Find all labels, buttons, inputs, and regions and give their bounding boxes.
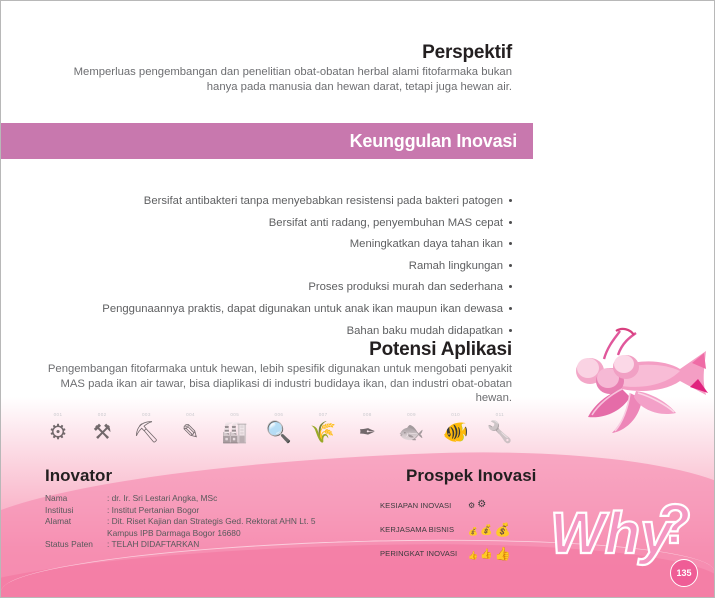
prospek-row-label: PERINGKAT INOVASI: [380, 549, 468, 558]
rating-icon: 👍: [495, 547, 511, 560]
keunggulan-list: Bersifat antibakteri tanpa menyebabkan r…: [61, 195, 512, 346]
keunggulan-item-label: Meningkatkan daya tahan ikan: [350, 238, 503, 250]
equipment-icon: ⚒: [83, 418, 121, 448]
prospek-row-label: KERJASAMA BISNIS: [380, 525, 468, 534]
why-question-mark: ?: [658, 492, 692, 555]
innovation-stage-icon-strip: 001⚙002⚒003⛏004✎005🏭006🔍007🌾008✒009🐟010🐠…: [39, 403, 519, 448]
keunggulan-banner: Keunggulan Inovasi: [0, 123, 533, 159]
prospek-row: KESIAPAN INOVASI⚙⚙: [380, 493, 540, 517]
prospek-row-label: KESIAPAN INOVASI: [380, 501, 468, 510]
strip-item-number: 007: [304, 412, 342, 417]
keunggulan-item-label: Bersifat antibakteri tanpa menyebabkan r…: [144, 195, 503, 207]
rating-icon: 👍: [468, 552, 478, 560]
perspektif-body-text: Memperluas pengembangan dan penelitian o…: [51, 65, 512, 94]
keunggulan-list-item: Bersifat anti radang, penyembuhan MAS ce…: [61, 217, 512, 230]
prospek-row: PERINGKAT INOVASI👍👍👍: [380, 541, 540, 565]
strip-item-004: 004✎: [172, 412, 210, 448]
prospek-row-rating-icons: 💰💰💰: [468, 523, 511, 536]
strip-item-008: 008✒: [348, 412, 386, 448]
strip-item-003: 003⛏: [127, 412, 165, 448]
tower-icon: ⛏: [127, 418, 165, 448]
strip-item-number: 001: [39, 412, 77, 417]
inovator-row-value: : TELAH DIDAFTARKAN: [107, 539, 375, 551]
prospek-row: KERJASAMA BISNIS💰💰💰: [380, 517, 540, 541]
hand-icon: ✒: [348, 418, 386, 448]
rating-icon: 👍: [480, 550, 493, 560]
strip-item-009: 009🐟: [393, 412, 431, 448]
strip-item-number: 010: [437, 412, 475, 417]
inovator-details-table: Nama: dr. Ir. Sri Lestari Angka, MScInst…: [45, 493, 375, 551]
rating-icon: ⚙: [468, 502, 475, 510]
inovator-row-key: Institusi: [45, 505, 107, 517]
strip-item-006: 006🔍: [260, 412, 298, 448]
rating-icon: 💰: [495, 523, 511, 536]
prospek-rating-list: KESIAPAN INOVASI⚙⚙KERJASAMA BISNIS💰💰💰PER…: [380, 493, 540, 565]
rating-icon: ⚙: [477, 500, 486, 510]
strip-item-number: 006: [260, 412, 298, 417]
fish-color-icon: 🐠: [437, 418, 475, 448]
strip-item-005: 005🏭: [216, 412, 254, 448]
tool-icon: ✎: [172, 418, 210, 448]
leaf-shapes: [588, 389, 676, 433]
bullet-dot-icon: [509, 221, 512, 224]
prospek-heading: Prospek Inovasi: [406, 466, 536, 486]
prospek-row-rating-icons: 👍👍👍: [468, 547, 511, 560]
inovator-row-value-continued: Kampus IPB Darmaga Bogor 16680: [107, 528, 375, 540]
strip-item-number: 004: [172, 412, 210, 417]
inovator-row-key: Nama: [45, 493, 107, 505]
rating-icon: 💰: [480, 526, 493, 536]
magnifier-icon: 🔍: [260, 418, 298, 448]
strip-item-number: 011: [481, 412, 519, 417]
inovator-row: Nama: dr. Ir. Sri Lestari Angka, MSc: [45, 493, 375, 505]
keunggulan-item-label: Ramah lingkungan: [409, 260, 503, 272]
inovator-row: Status Paten: TELAH DIDAFTARKAN: [45, 539, 375, 551]
strip-item-002: 002⚒: [83, 412, 121, 448]
keunggulan-list-item: Bahan baku mudah didapatkan: [61, 325, 512, 338]
wrench-icon: 🔧: [481, 418, 519, 448]
fish-and-fruit-illustration: [560, 319, 710, 434]
strip-item-number: 003: [127, 412, 165, 417]
strip-item-001: 001⚙: [39, 412, 77, 448]
bullet-dot-icon: [509, 329, 512, 332]
strip-item-010: 010🐠: [437, 412, 475, 448]
bullet-dot-icon: [509, 264, 512, 267]
inovator-row-value: : Institut Pertanian Bogor: [107, 505, 375, 517]
bullet-dot-icon: [509, 199, 512, 202]
inovator-row-value: : dr. Ir. Sri Lestari Angka, MSc: [107, 493, 375, 505]
bullet-dot-icon: [509, 242, 512, 245]
factory-icon: 🏭: [216, 418, 254, 448]
keunggulan-item-label: Proses produksi murah dan sederhana: [308, 281, 503, 293]
keunggulan-list-item: Bersifat antibakteri tanpa menyebabkan r…: [61, 195, 512, 208]
keunggulan-item-label: Bersifat anti radang, penyembuhan MAS ce…: [269, 217, 503, 229]
farm-icon: 🌾: [304, 418, 342, 448]
page-root: Perspektif Memperluas pengembangan dan p…: [0, 0, 715, 598]
strip-item-011: 011🔧: [481, 412, 519, 448]
inovator-row: Alamat: Dit. Riset Kajian dan Strategis …: [45, 516, 375, 528]
strip-item-number: 002: [83, 412, 121, 417]
keunggulan-item-label: Bahan baku mudah didapatkan: [347, 325, 503, 337]
inovator-row-key: Status Paten: [45, 539, 107, 551]
inovator-row-value: : Dit. Riset Kajian dan Strategis Ged. R…: [107, 516, 375, 528]
fish-gray-icon: 🐟: [393, 418, 431, 448]
inovator-row-key: Alamat: [45, 516, 107, 528]
strip-item-number: 005: [216, 412, 254, 417]
bullet-dot-icon: [509, 285, 512, 288]
perspektif-heading: Perspektif: [422, 42, 512, 64]
inovator-heading: Inovator: [45, 466, 112, 486]
inovator-row: Institusi: Institut Pertanian Bogor: [45, 505, 375, 517]
machinery-icon: ⚙: [39, 418, 77, 448]
potensi-heading: Potensi Aplikasi: [369, 339, 512, 361]
rating-icon: 💰: [468, 528, 478, 536]
bullet-dot-icon: [509, 307, 512, 310]
keunggulan-item-label: Penggunaannya praktis, dapat digunakan u…: [102, 303, 503, 315]
keunggulan-list-item: Ramah lingkungan: [61, 260, 512, 273]
keunggulan-list-item: Meningkatkan daya tahan ikan: [61, 238, 512, 251]
why-wordmark-text: Why: [550, 501, 675, 566]
strip-item-007: 007🌾: [304, 412, 342, 448]
page-number-badge: 135: [670, 559, 698, 587]
keunggulan-list-item: Proses produksi murah dan sederhana: [61, 281, 512, 294]
potensi-body-text: Pengembangan fitofarmaka untuk hewan, le…: [31, 362, 512, 406]
keunggulan-list-item: Penggunaannya praktis, dapat digunakan u…: [61, 303, 512, 316]
prospek-row-rating-icons: ⚙⚙: [468, 500, 486, 510]
keunggulan-banner-label: Keunggulan Inovasi: [350, 131, 517, 152]
strip-item-number: 008: [348, 412, 386, 417]
strip-item-number: 009: [393, 412, 431, 417]
